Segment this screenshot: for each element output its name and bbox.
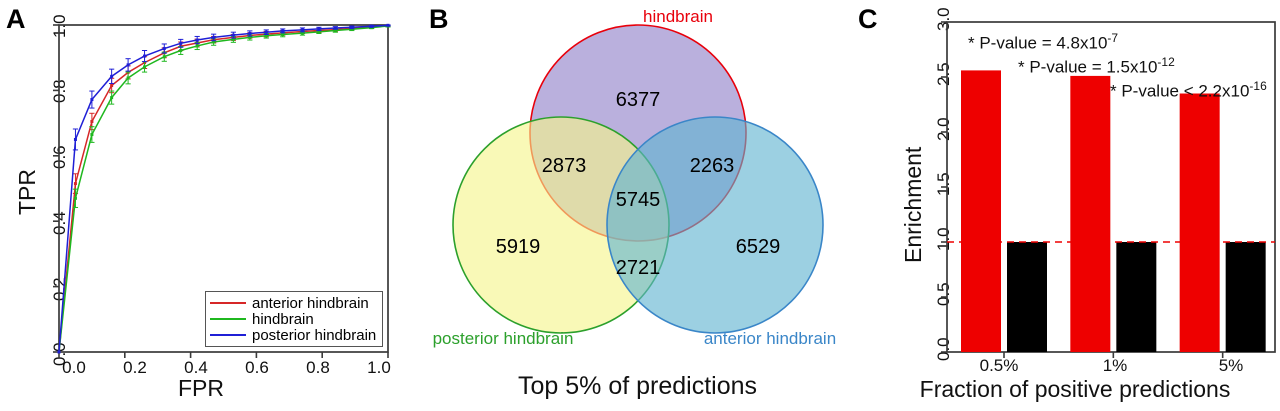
bar-background-0 — [1007, 242, 1047, 352]
bar-observed-0 — [961, 70, 1001, 352]
venn-count-all-three: 5745 — [616, 189, 661, 211]
venn-count-hindbrain-only: 6377 — [616, 89, 661, 111]
venn-label-posterior-hindbrain: posterior hindbrain — [433, 329, 574, 348]
legend-label-anterior-hindbrain: anterior hindbrain — [252, 296, 369, 311]
panel-c-enrichment-bar-chart: C Enrichment Fraction of positive predic… — [850, 0, 1280, 411]
panel-b-venn-diagram: B 6377591965292873226327215745hindbrainp… — [425, 0, 850, 411]
panel-b-venn-canvas: 6377591965292873226327215745hindbrainpos… — [425, 0, 850, 370]
pvalue-exp-2: -12 — [1157, 55, 1174, 69]
pvalue-text-3: * P-value < 2.2x10 — [1110, 82, 1249, 101]
bar-observed-1 — [1070, 76, 1110, 352]
pvalue-annotation-1: * P-value = 4.8x10-7 — [968, 31, 1118, 54]
panel-a-legend: anterior hindbrain hindbrain posterior h… — [205, 291, 383, 347]
venn-label-anterior-hindbrain: anterior hindbrain — [704, 329, 836, 348]
bar-observed-2 — [1180, 94, 1220, 353]
venn-count-hindbrain-posterior: 2873 — [542, 155, 587, 177]
legend-label-hindbrain: hindbrain — [252, 312, 314, 327]
legend-swatch-posterior-hindbrain — [210, 334, 246, 336]
pvalue-exp-1: -7 — [1107, 31, 1118, 45]
pvalue-exp-3: -16 — [1249, 79, 1266, 93]
legend-entry-anterior-hindbrain: anterior hindbrain — [210, 295, 376, 311]
pvalue-text-2: * P-value = 1.5x10 — [1018, 58, 1157, 77]
venn-count-anterior-only: 6529 — [736, 236, 781, 258]
bar-background-1 — [1116, 242, 1156, 352]
panel-a-roc-curve: A TPR FPR 0.0 0.2 0.4 0.6 0.8 1.0 0.0 0.… — [0, 0, 425, 411]
bar-background-2 — [1226, 242, 1266, 352]
panel-a-plot-canvas — [0, 0, 425, 411]
venn-count-posterior-anterior: 2721 — [616, 257, 661, 279]
pvalue-annotation-2: * P-value = 1.5x10-12 — [1018, 55, 1175, 78]
pvalue-annotation-3: * P-value < 2.2x10-16 — [1110, 79, 1267, 102]
panel-b-caption: Top 5% of predictions — [425, 372, 850, 401]
legend-label-posterior-hindbrain: posterior hindbrain — [252, 328, 376, 343]
legend-swatch-anterior-hindbrain — [210, 302, 246, 304]
venn-count-hindbrain-anterior: 2263 — [690, 155, 735, 177]
legend-entry-hindbrain: hindbrain — [210, 311, 376, 327]
pvalue-text-1: * P-value = 4.8x10 — [968, 34, 1107, 53]
venn-count-posterior-only: 5919 — [496, 236, 541, 258]
legend-entry-posterior-hindbrain: posterior hindbrain — [210, 327, 376, 343]
venn-label-hindbrain: hindbrain — [643, 7, 713, 26]
legend-swatch-hindbrain — [210, 318, 246, 320]
